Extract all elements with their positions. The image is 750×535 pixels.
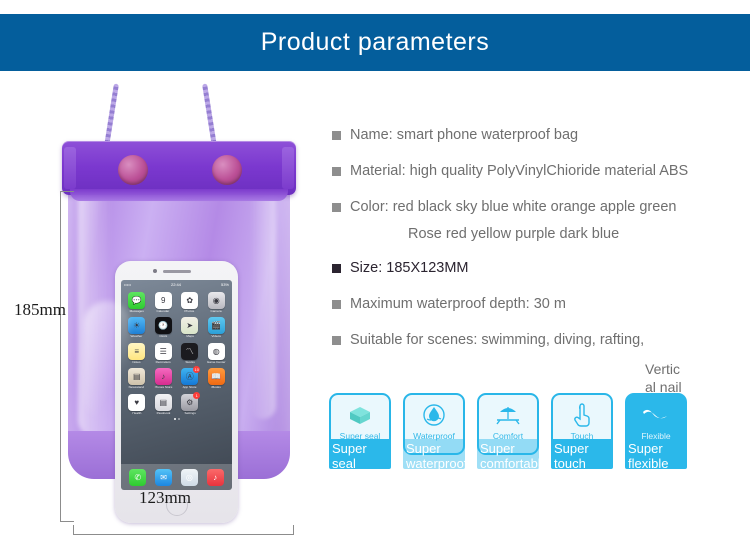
notification-badge: 10 (193, 366, 200, 373)
app-icon-passbook: ▤Passbook (152, 394, 176, 415)
feature-badge-touch[interactable]: TouchSuper touch (551, 393, 613, 455)
app-label: Notes (133, 361, 141, 364)
app-label: Health (132, 412, 141, 415)
home-screen-icon-grid: 💬Messages9Calendar✿Photos◉Camera☀Weather… (121, 288, 232, 415)
page-dot (174, 418, 176, 420)
app-icon-health: ♥Health (125, 394, 149, 415)
app-label: Settings (184, 412, 195, 415)
height-dimension-line (60, 191, 61, 521)
app-glyph: ⚙1 (181, 394, 198, 411)
app-glyph: 🕐 (155, 317, 172, 334)
earpiece-speaker (163, 270, 191, 273)
status-bar: ••••• 22:44 53% (121, 280, 232, 288)
feature-badge-comfort[interactable]: ComfortSuper comfortable (477, 393, 539, 455)
app-icon-clock: 🕐Clock (152, 317, 176, 338)
app-glyph: ≡ (128, 343, 145, 360)
specification-list: Name: smart phone waterproof bagMaterial… (332, 126, 744, 367)
bullet-square-icon (332, 167, 341, 176)
app-label: Photos (185, 310, 195, 313)
page-indicator (121, 418, 232, 420)
vertical-nail-overlay-text: Vertical nail (645, 360, 687, 396)
app-label: Reminders (156, 361, 171, 364)
app-glyph: ♪ (155, 368, 172, 385)
clamp-end-left (64, 147, 76, 189)
app-label: Calendar (157, 310, 170, 313)
feature-overlay-label: Super seal (329, 439, 391, 469)
app-icon-photos: ✿Photos (178, 292, 202, 313)
bag-seal-clamp (62, 141, 296, 195)
status-signal: ••••• (124, 282, 131, 287)
app-label: Passbook (156, 412, 170, 415)
app-icon-itunes-store: ♪iTunes Store (152, 368, 176, 389)
app-icon-camera: ◉Camera (205, 292, 229, 313)
app-label: Videos (212, 336, 221, 339)
app-icon-calendar: 9Calendar (152, 292, 176, 313)
app-icon-weather: ☀Weather (125, 317, 149, 338)
app-glyph: ▤ (128, 368, 145, 385)
bullet-square-icon (332, 264, 341, 273)
dock-icon-mail: ✉ (155, 469, 172, 486)
app-label: Messages (130, 310, 144, 313)
wave-icon (641, 402, 671, 428)
feature-badge-waterproof[interactable]: WaterproofSuper waterproof (403, 393, 465, 455)
page-title: Product parameters (261, 28, 490, 57)
app-glyph: Ⓐ10 (181, 368, 198, 385)
app-icon-stocks: 〽Stocks (178, 343, 202, 364)
app-icon-ibooks: 📖iBooks (205, 368, 229, 389)
app-glyph: 💬 (128, 292, 145, 309)
spec-label: Color: red black sky blue white orange a… (350, 198, 676, 217)
bullet-square-icon (332, 131, 341, 140)
page-dot (178, 418, 180, 420)
bag-highlight-right (250, 179, 276, 419)
bullet-square-icon (332, 336, 341, 345)
snap-button-right (212, 155, 242, 185)
app-glyph: ☰ (155, 343, 172, 360)
app-glyph: ➤ (181, 317, 198, 334)
app-label: Weather (131, 336, 143, 339)
water-drop-icon (419, 402, 449, 428)
app-glyph: 🎬 (208, 317, 225, 334)
status-time: 22:44 (171, 282, 181, 287)
app-glyph: 〽 (181, 343, 198, 360)
feature-overlay-label: Super touch (551, 439, 613, 469)
spec-row: Maximum waterproof depth: 30 m (332, 295, 744, 314)
beach-chair-icon (493, 402, 523, 428)
product-photo-area: ••••• 22:44 53% 💬Messages9Calendar✿Photo… (0, 71, 320, 527)
app-glyph: ▤ (155, 394, 172, 411)
product-parameters-page: Product parameters ••••• 22:44 53% 💬Mess… (0, 0, 750, 527)
bag-highlight-left (78, 167, 112, 437)
notification-badge: 1 (193, 392, 200, 399)
feature-badge-flexible[interactable]: FlexibleSuper flexible (625, 393, 687, 455)
smartphone: ••••• 22:44 53% 💬Messages9Calendar✿Photo… (115, 261, 238, 523)
app-icon-maps: ➤Maps (178, 317, 202, 338)
app-icon-reminders: ☰Reminders (152, 343, 176, 364)
feature-overlay-label: Super comfortable (477, 439, 539, 469)
app-icon-app-store: Ⓐ10App Store (178, 368, 202, 389)
app-glyph: 📖 (208, 368, 225, 385)
spec-label-continuation: Rose red yellow purple dark blue (408, 226, 744, 242)
dock-icon-phone: ✆ (129, 469, 146, 486)
feature-badge-row: Super sealSuper sealWaterproofSuper wate… (329, 393, 687, 455)
app-icon-newsstand: ▤Newsstand (125, 368, 149, 389)
snap-button-left (118, 155, 148, 185)
app-label: iBooks (212, 386, 221, 389)
app-label: iTunes Store (154, 386, 172, 389)
box-icon (345, 402, 375, 428)
app-label: Newsstand (129, 386, 144, 389)
spec-row: Size: 185X123MM (332, 259, 744, 278)
feature-badge-super-seal[interactable]: Super sealSuper seal (329, 393, 391, 455)
app-label: Maps (186, 336, 194, 339)
spec-label: Maximum waterproof depth: 30 m (350, 295, 566, 314)
width-dimension-label: 123mm (139, 488, 191, 508)
app-label: Camera (211, 310, 222, 313)
app-glyph: ☀ (128, 317, 145, 334)
feature-overlay-label: Super flexible (625, 439, 687, 469)
spec-row: Color: red black sky blue white orange a… (332, 198, 744, 217)
page-header-banner: Product parameters (0, 14, 750, 71)
bullet-square-icon (332, 300, 341, 309)
clamp-end-right (282, 147, 294, 189)
app-glyph: ✿ (181, 292, 198, 309)
spec-row: Material: high quality PolyVinylChioride… (332, 162, 744, 181)
spec-label: Material: high quality PolyVinylChioride… (350, 162, 688, 181)
height-dimension-cap-bottom (60, 521, 74, 522)
app-glyph: ♥ (128, 394, 145, 411)
spec-label: Name: smart phone waterproof bag (350, 126, 578, 145)
height-dimension-cap-top (60, 191, 74, 192)
bag-seal-lip (70, 189, 288, 201)
dock-icon-music: ♪ (207, 469, 224, 486)
dock-icon-safari: ◎ (181, 469, 198, 486)
hand-touch-icon (567, 402, 597, 428)
app-icon-game-center: ◍Game Center (205, 343, 229, 364)
app-label: Stocks (185, 361, 194, 364)
bullet-square-icon (332, 203, 341, 212)
app-icon-settings: ⚙1Settings (178, 394, 202, 415)
app-label: Game Center (207, 361, 226, 364)
phone-dock: ✆✉◎♪ (121, 464, 232, 490)
app-glyph: ◉ (208, 292, 225, 309)
feature-overlay-label: Super waterproof (403, 439, 465, 469)
front-camera-icon (153, 269, 157, 273)
height-dimension-label: 185mm (14, 300, 66, 320)
app-icon-notes: ≡Notes (125, 343, 149, 364)
spec-row: Suitable for scenes: swimming, diving, r… (332, 331, 744, 350)
phone-screen: ••••• 22:44 53% 💬Messages9Calendar✿Photo… (121, 280, 232, 490)
spec-label: Size: 185X123MM (350, 259, 468, 278)
app-icon-messages: 💬Messages (125, 292, 149, 313)
status-battery: 53% (221, 282, 229, 287)
app-glyph: ◍ (208, 343, 225, 360)
app-label: App Store (183, 386, 197, 389)
spec-row: Name: smart phone waterproof bag (332, 126, 744, 145)
spec-label: Suitable for scenes: swimming, diving, r… (350, 331, 644, 350)
app-glyph: 9 (155, 292, 172, 309)
app-icon-videos: 🎬Videos (205, 317, 229, 338)
app-label: Clock (159, 336, 167, 339)
